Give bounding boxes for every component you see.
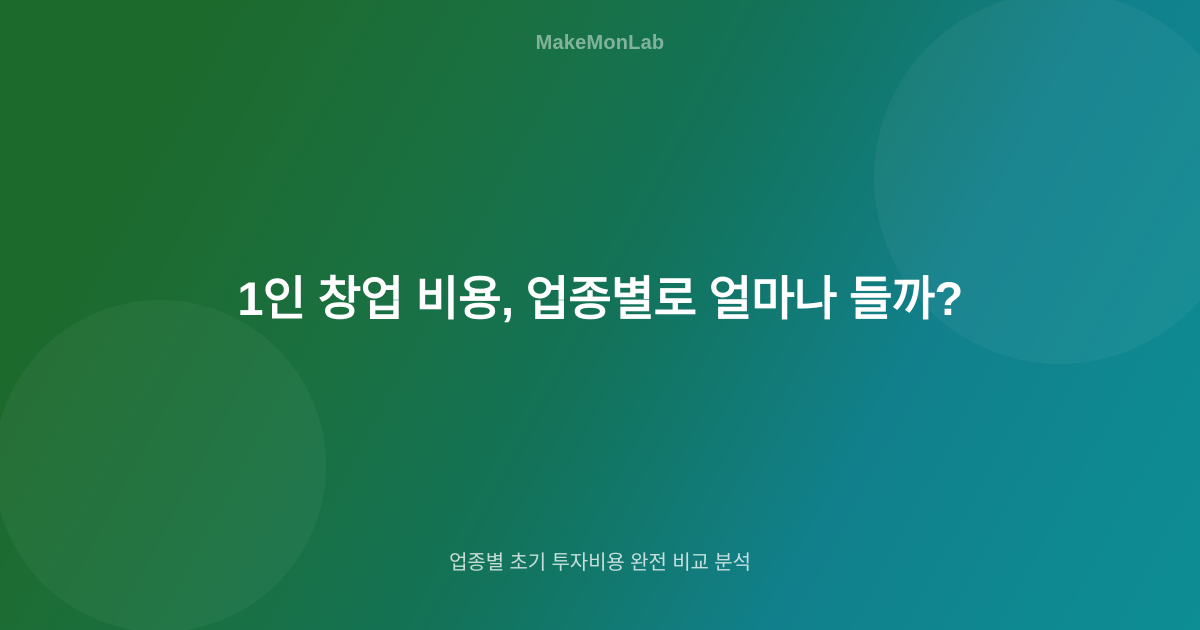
card-content: MakeMonLab 1인 창업 비용, 업종별로 얼마나 들까? 업종별 초기… bbox=[0, 0, 1200, 630]
title-container: 1인 창업 비용, 업종별로 얼마나 들까? bbox=[60, 49, 1140, 550]
page-subtitle: 업종별 초기 투자비용 완전 비교 분석 bbox=[449, 550, 751, 576]
og-card: MakeMonLab 1인 창업 비용, 업종별로 얼마나 들까? 업종별 초기… bbox=[0, 0, 1200, 630]
page-title: 1인 창업 비용, 업종별로 얼마나 들까? bbox=[237, 269, 962, 329]
